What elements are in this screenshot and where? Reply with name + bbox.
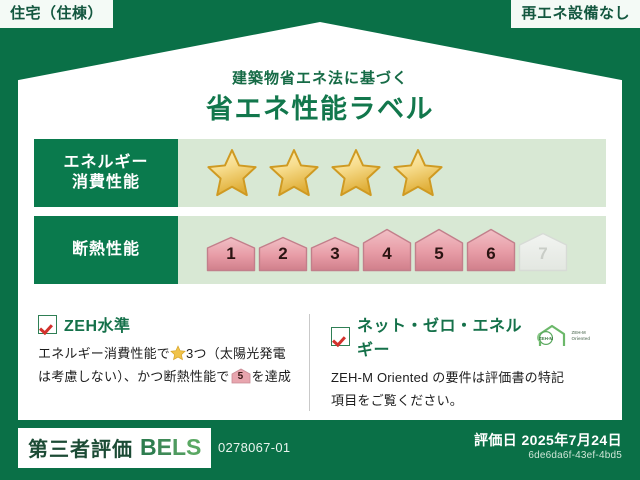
insulation-badge: 2: [258, 236, 308, 272]
bels-letter-e: E: [157, 434, 172, 460]
zeh-body-part3: は考慮しない）、かつ断熱性能で: [38, 369, 230, 384]
footer: 第三者評価 BELS 0278067-01 評価日 2025年7月24日 6de…: [0, 420, 640, 480]
energy-performance-label: エネルギー 消費性能: [34, 139, 178, 207]
star-icon: [268, 147, 320, 199]
third-party-eval-label: 第三者評価: [28, 433, 133, 462]
notes-section: ZEH水準 エネルギー消費性能で3つ（太陽光発電は考慮しない）、かつ断熱性能で5…: [38, 312, 602, 413]
badge-shape: [206, 236, 256, 272]
zeh-note-body: エネルギー消費性能で3つ（太陽光発電は考慮しない）、かつ断熱性能で5を達成: [38, 343, 297, 389]
notes-divider: [309, 314, 310, 411]
zeh-m-logo-subtext: ZEH-M Oriented: [571, 330, 590, 341]
label-panel: 建築物省エネ法に基づく 省エネ性能ラベル エネルギー 消費性能 断熱性能 12: [18, 22, 622, 420]
star-icon: [330, 147, 382, 199]
insulation-performance-row: 断熱性能 1234567: [34, 216, 606, 284]
insulation-badge: 3: [310, 236, 360, 272]
inline-grade-badge: 5: [231, 368, 251, 384]
zeh-note-header: ZEH水準: [38, 312, 297, 336]
star-icon: [206, 147, 258, 199]
badge-shape: [466, 228, 516, 272]
nze-body-line1: ZEH-M Oriented の要件は評価書の特記: [331, 370, 564, 385]
bels-number: 0278067-01: [218, 440, 290, 455]
insulation-badge-scale: 1234567: [206, 228, 568, 272]
badge-shape: [362, 228, 412, 272]
bels-certification-box: 第三者評価 BELS: [18, 428, 211, 468]
bels-letter-s: S: [186, 434, 201, 460]
page-title: 省エネ性能ラベル: [18, 87, 622, 126]
nze-body-line2: 項目をご覧ください。: [331, 393, 463, 408]
evaluation-date: 評価日 2025年7月24日: [474, 430, 622, 450]
nze-note-body: ZEH-M Oriented の要件は評価書の特記 項目をご覧ください。: [331, 367, 590, 413]
building-type-tag: 住宅（住棟）: [0, 0, 113, 28]
zeh-body-part4: を達成: [252, 369, 292, 384]
zeh-m-logo-text: ZEH-M: [539, 336, 554, 341]
insulation-badge: 6: [466, 228, 516, 272]
badge-shape: [518, 232, 568, 272]
insulation-label-line1: 断熱性能: [72, 240, 140, 260]
inline-badge-number: 5: [231, 368, 251, 384]
star-icon: [392, 147, 444, 199]
insulation-badge: 4: [362, 228, 412, 272]
zeh-m-sub-line2: Oriented: [571, 336, 590, 341]
zeh-body-part2: 3つ（太陽光発電: [186, 346, 286, 361]
insulation-badge: 1: [206, 236, 256, 272]
zeh-m-sub-line1: ZEH-M: [571, 330, 585, 335]
checkmark-icon: [331, 327, 350, 346]
nze-note-title: ネット・ゼロ・エネルギー: [357, 312, 523, 360]
insulation-badge: 5: [414, 228, 464, 272]
rating-rows: エネルギー 消費性能 断熱性能 1234567: [34, 139, 606, 293]
title-subtitle: 建築物省エネ法に基づく: [18, 67, 622, 88]
net-zero-energy-note: ネット・ゼロ・エネルギー ZEH-M ZEH-M Oriented: [309, 312, 602, 413]
badge-shape: [258, 236, 308, 272]
insulation-badge: 7: [518, 232, 568, 272]
energy-label-line1: エネルギー: [63, 153, 148, 173]
badge-shape: [414, 228, 464, 272]
checkmark-icon: [38, 315, 57, 334]
badge-shape: [310, 236, 360, 272]
bels-logo: BELS: [140, 434, 201, 461]
zeh-standard-note: ZEH水準 エネルギー消費性能で3つ（太陽光発電は考慮しない）、かつ断熱性能で5…: [38, 312, 309, 413]
energy-label-line2: 消費性能: [72, 173, 140, 193]
star-rating: [206, 147, 444, 199]
insulation-performance-label: 断熱性能: [34, 216, 178, 284]
nze-note-header: ネット・ゼロ・エネルギー ZEH-M ZEH-M Oriented: [331, 312, 590, 360]
zeh-m-house-icon: ZEH-M: [535, 324, 569, 348]
inline-star-icon: [170, 345, 186, 361]
zeh-m-logo: ZEH-M ZEH-M Oriented: [535, 324, 590, 348]
zeh-body-part1: エネルギー消費性能で: [38, 346, 170, 361]
energy-performance-value: [178, 139, 606, 207]
energy-performance-row: エネルギー 消費性能: [34, 139, 606, 207]
insulation-performance-value: 1234567: [178, 216, 606, 284]
bels-letter-l: L: [172, 434, 186, 460]
zeh-note-title: ZEH水準: [64, 312, 131, 336]
renewable-energy-tag: 再エネ設備なし: [511, 0, 640, 28]
bels-letter-b: B: [140, 434, 157, 460]
evaluation-id: 6de6da6f-43ef-4bd5: [528, 450, 622, 461]
